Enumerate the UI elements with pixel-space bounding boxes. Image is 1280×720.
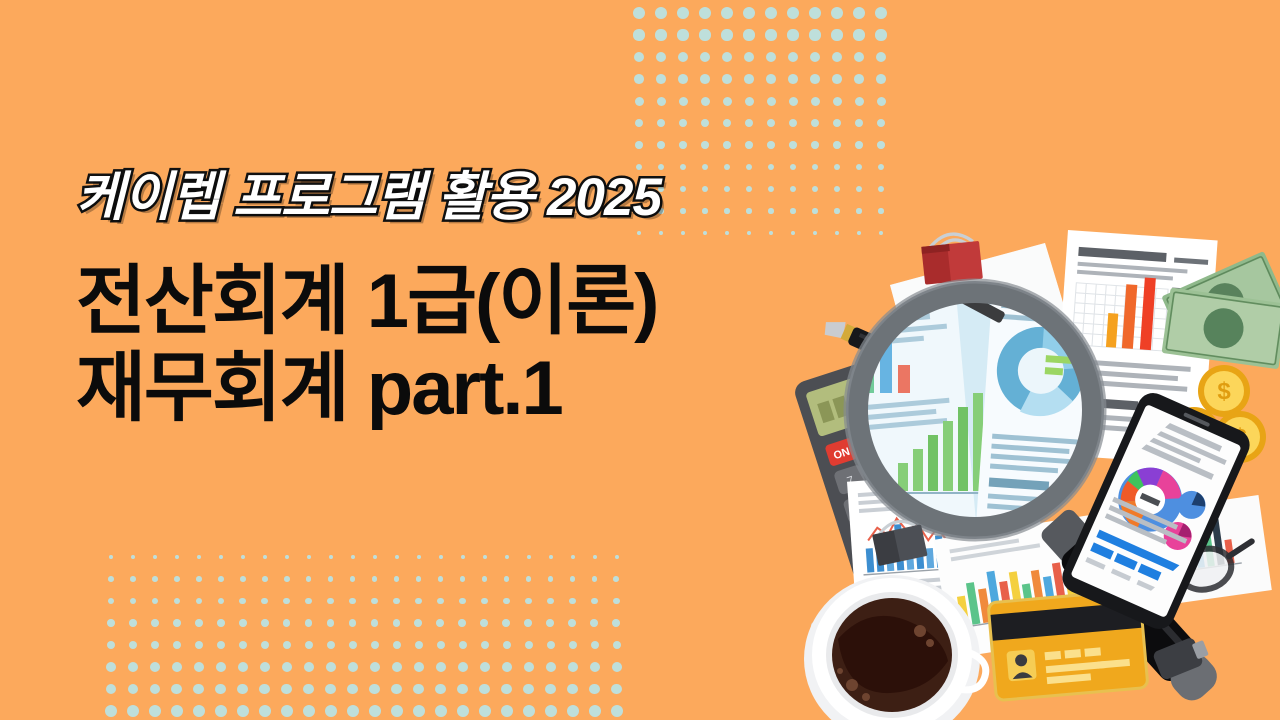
dot	[459, 641, 468, 650]
dot	[678, 74, 688, 84]
dot	[325, 684, 336, 695]
dot	[612, 619, 620, 627]
dot-grid-row	[100, 546, 628, 568]
dot	[765, 7, 777, 19]
dot	[525, 641, 534, 650]
dot	[303, 705, 315, 717]
dot	[373, 555, 378, 560]
dot	[701, 119, 709, 127]
dot	[877, 97, 886, 106]
dot	[877, 141, 885, 149]
dot	[350, 576, 356, 582]
dot	[634, 74, 644, 84]
dot	[480, 619, 488, 627]
dot	[325, 705, 337, 717]
dot	[370, 662, 380, 672]
dot-grid-row	[100, 612, 628, 634]
dot	[787, 29, 798, 40]
dot	[349, 598, 356, 605]
dot	[876, 74, 886, 84]
dot	[876, 52, 887, 63]
dot	[415, 641, 424, 650]
dot	[635, 119, 643, 127]
dot	[195, 619, 203, 627]
dot	[743, 7, 755, 19]
dot	[788, 74, 798, 84]
dot	[501, 705, 513, 717]
dot	[108, 576, 114, 582]
dot	[436, 619, 444, 627]
dot	[679, 119, 687, 127]
dot-grid-row	[100, 700, 628, 720]
dot	[305, 598, 312, 605]
dot	[395, 555, 400, 560]
dot	[197, 555, 202, 560]
course-eyebrow: 케이렙 프로그램 활용 2025	[76, 168, 816, 227]
dot	[281, 705, 293, 717]
dot	[635, 141, 643, 149]
dot	[613, 598, 620, 605]
dot	[458, 662, 468, 672]
dot	[262, 576, 268, 582]
dot	[129, 641, 138, 650]
dot	[393, 641, 402, 650]
dot	[303, 684, 314, 695]
dot	[875, 7, 887, 19]
dot	[567, 705, 579, 717]
dot	[215, 705, 227, 717]
dot	[589, 705, 601, 717]
dot	[767, 119, 775, 127]
dot	[568, 662, 578, 672]
dot	[349, 641, 358, 650]
dot-grid-row	[628, 46, 892, 68]
dot	[590, 619, 598, 627]
dot	[461, 555, 466, 560]
dot	[196, 576, 202, 582]
dot	[219, 555, 224, 560]
dot	[283, 619, 291, 627]
dot	[326, 662, 336, 672]
dot-grid-row	[628, 112, 892, 134]
dot	[414, 619, 422, 627]
dot	[525, 598, 532, 605]
dot	[371, 619, 379, 627]
dot	[722, 52, 733, 63]
dot	[505, 555, 510, 560]
dot	[831, 29, 842, 40]
dot	[285, 555, 290, 560]
dot	[611, 684, 622, 695]
dot	[128, 684, 139, 695]
dot	[523, 684, 534, 695]
dot	[854, 52, 865, 63]
dot	[372, 576, 378, 582]
dot	[438, 576, 444, 582]
page-title-line-1: 전산회계 1급(이론)	[76, 259, 816, 346]
dot	[677, 7, 689, 19]
dot	[436, 662, 446, 672]
dot	[128, 662, 138, 672]
dot	[307, 555, 312, 560]
dot	[391, 684, 402, 695]
dot	[547, 598, 554, 605]
dot	[657, 97, 666, 106]
page-title-line-2: 재무회계 part.1	[76, 346, 816, 433]
dot	[810, 52, 821, 63]
dot	[283, 641, 292, 650]
dot	[613, 576, 619, 582]
dot-grid-row	[100, 590, 628, 612]
dot	[809, 29, 820, 40]
dot	[217, 641, 226, 650]
dot	[263, 555, 268, 560]
dot	[394, 576, 400, 582]
dot	[173, 619, 181, 627]
dot	[329, 555, 334, 560]
dot	[109, 555, 114, 560]
dot	[391, 705, 403, 717]
dot	[393, 619, 401, 627]
dot	[435, 684, 446, 695]
dot	[413, 705, 425, 717]
dot	[699, 29, 710, 40]
dot	[567, 684, 578, 695]
dot	[855, 141, 863, 149]
dot	[196, 598, 203, 605]
dot	[328, 576, 334, 582]
dot	[591, 641, 600, 650]
dot	[175, 555, 180, 560]
dot	[174, 598, 181, 605]
dot	[545, 684, 556, 695]
dot	[545, 705, 557, 717]
dot	[878, 208, 883, 213]
dot	[240, 576, 246, 582]
dot	[679, 141, 687, 149]
dot	[502, 619, 510, 627]
dot	[260, 662, 270, 672]
dot	[766, 52, 777, 63]
dot	[151, 641, 160, 650]
dot	[218, 598, 225, 605]
dot	[657, 119, 665, 127]
dot	[524, 619, 532, 627]
dot	[833, 141, 841, 149]
dot	[788, 52, 799, 63]
dot	[526, 576, 532, 582]
dot	[127, 705, 139, 717]
dot	[809, 7, 821, 19]
dot	[853, 7, 865, 19]
dot	[129, 619, 137, 627]
binder-clip-red	[920, 231, 983, 284]
dot	[216, 662, 226, 672]
dot	[261, 619, 269, 627]
dot	[855, 119, 863, 127]
dot	[152, 598, 159, 605]
dot	[701, 141, 709, 149]
dot	[765, 29, 776, 40]
dot	[655, 7, 667, 19]
dot	[767, 97, 776, 106]
dot	[745, 97, 754, 106]
dot	[150, 684, 161, 695]
dot	[369, 684, 380, 695]
dot	[721, 7, 733, 19]
dot	[570, 576, 576, 582]
dot	[612, 662, 622, 672]
dot	[501, 684, 512, 695]
dot	[369, 705, 381, 717]
dot	[305, 619, 313, 627]
dot	[153, 555, 158, 560]
dot	[633, 29, 644, 40]
dot	[195, 641, 204, 650]
dot	[131, 555, 136, 560]
dot	[483, 555, 488, 560]
dot	[414, 662, 424, 672]
dot	[479, 705, 491, 717]
page-title: 전산회계 1급(이론) 재무회계 part.1	[76, 259, 816, 432]
dot	[327, 598, 334, 605]
dot	[281, 684, 292, 695]
dot	[878, 164, 885, 171]
dot	[439, 555, 444, 560]
dot	[415, 598, 422, 605]
dot	[592, 576, 598, 582]
dot	[457, 684, 468, 695]
dot	[811, 119, 819, 127]
dot-grid-row	[628, 24, 892, 46]
dot	[151, 619, 159, 627]
dot	[435, 705, 447, 717]
dot	[789, 119, 797, 127]
dot	[217, 619, 225, 627]
dot	[283, 598, 290, 605]
dot	[789, 141, 797, 149]
dot	[677, 29, 688, 40]
dot	[150, 662, 160, 672]
dot	[523, 705, 535, 717]
dot	[832, 74, 842, 84]
dot	[856, 186, 862, 192]
dot	[613, 641, 622, 650]
dot	[789, 97, 798, 106]
dot	[767, 141, 775, 149]
dot	[834, 208, 839, 213]
dot	[437, 598, 444, 605]
dot	[657, 141, 665, 149]
dot	[787, 7, 799, 19]
dot	[503, 598, 510, 605]
dot	[239, 619, 247, 627]
dot	[723, 141, 731, 149]
dot	[239, 641, 248, 650]
dot	[853, 29, 864, 40]
dot	[593, 555, 598, 560]
dot	[413, 684, 424, 695]
dot	[611, 705, 623, 717]
dot	[700, 74, 710, 84]
dot	[106, 684, 117, 695]
dot	[722, 74, 732, 84]
dot	[174, 576, 180, 582]
dot	[237, 684, 248, 695]
dot	[105, 705, 117, 717]
dot	[306, 576, 312, 582]
dot	[239, 598, 246, 605]
dot	[459, 598, 466, 605]
dot	[834, 164, 841, 171]
dot	[371, 641, 380, 650]
dot	[130, 576, 136, 582]
dot	[547, 641, 556, 650]
dot	[855, 97, 864, 106]
dot	[744, 52, 755, 63]
dot	[568, 619, 576, 627]
dot	[834, 186, 840, 192]
dot	[699, 7, 711, 19]
dot	[215, 684, 226, 695]
dot	[878, 186, 884, 192]
dot	[152, 576, 158, 582]
dot	[721, 29, 732, 40]
dot	[831, 7, 843, 19]
dot	[194, 662, 204, 672]
dot	[549, 555, 554, 560]
dot	[569, 598, 576, 605]
dot	[171, 684, 182, 695]
dot	[527, 555, 532, 560]
dot	[569, 641, 578, 650]
dot	[701, 97, 710, 106]
dot	[238, 662, 248, 672]
dot	[106, 662, 116, 672]
dot	[856, 164, 863, 171]
dot	[261, 598, 268, 605]
dot	[854, 74, 864, 84]
dot	[458, 619, 466, 627]
dot	[107, 619, 115, 627]
dot	[811, 141, 819, 149]
dot	[171, 705, 183, 717]
dot	[393, 598, 400, 605]
dot	[259, 705, 271, 717]
dot	[743, 29, 754, 40]
dot	[193, 684, 204, 695]
dot	[590, 662, 600, 672]
dot	[457, 705, 469, 717]
dot	[108, 598, 115, 605]
dot	[503, 641, 512, 650]
dot	[744, 74, 754, 84]
dot	[615, 555, 620, 560]
dot	[107, 641, 116, 650]
dot	[633, 7, 645, 19]
dot	[241, 555, 246, 560]
dot	[149, 705, 161, 717]
dot	[284, 576, 290, 582]
dot	[546, 619, 554, 627]
dot	[546, 662, 556, 672]
dot	[172, 662, 182, 672]
dot-grid-row	[100, 656, 628, 678]
dot	[259, 684, 270, 695]
dot	[481, 641, 490, 650]
dot	[218, 576, 224, 582]
dot	[656, 74, 666, 84]
dot	[811, 97, 820, 106]
dot	[327, 619, 335, 627]
dot	[634, 52, 645, 63]
dot-grid-row	[100, 568, 628, 590]
dot-grid-row	[628, 134, 892, 156]
dot-grid-row	[628, 68, 892, 90]
dot-grid-row	[628, 2, 892, 24]
dot	[678, 52, 689, 63]
dot	[480, 662, 490, 672]
dot-grid-bottom-left	[100, 546, 628, 720]
dot	[571, 555, 576, 560]
dot	[635, 97, 644, 106]
dot	[348, 662, 358, 672]
dot	[745, 141, 753, 149]
dot	[832, 52, 843, 63]
dot	[481, 598, 488, 605]
dot	[524, 662, 534, 672]
dot	[833, 97, 842, 106]
dot	[766, 74, 776, 84]
dot	[479, 684, 490, 695]
dot	[327, 641, 336, 650]
dot-grid-row	[628, 90, 892, 112]
dot	[655, 29, 666, 40]
dot	[700, 52, 711, 63]
dot	[416, 576, 422, 582]
dot	[417, 555, 422, 560]
dot	[392, 662, 402, 672]
dot	[591, 598, 598, 605]
dot	[347, 684, 358, 695]
dot	[173, 641, 182, 650]
thumbnail-canvas: 케이렙 프로그램 활용 2025 전산회계 1급(이론) 재무회계 part.1	[0, 0, 1280, 720]
dot	[130, 598, 137, 605]
dot	[502, 662, 512, 672]
dot	[504, 576, 510, 582]
dot	[305, 641, 314, 650]
dot	[810, 74, 820, 84]
dot	[347, 705, 359, 717]
dot	[304, 662, 314, 672]
dot	[679, 97, 688, 106]
dot	[833, 119, 841, 127]
dot	[282, 662, 292, 672]
svg-text:$: $	[1217, 378, 1231, 405]
dot	[193, 705, 205, 717]
dot	[656, 52, 667, 63]
dot	[351, 555, 356, 560]
dot	[856, 208, 861, 213]
dot	[460, 576, 466, 582]
dot	[349, 619, 357, 627]
dot	[589, 684, 600, 695]
hero-text-block: 케이렙 프로그램 활용 2025 전산회계 1급(이론) 재무회계 part.1	[76, 168, 816, 433]
dot	[745, 119, 753, 127]
dot	[371, 598, 378, 605]
dot-grid-row	[100, 678, 628, 700]
dot	[261, 641, 270, 650]
